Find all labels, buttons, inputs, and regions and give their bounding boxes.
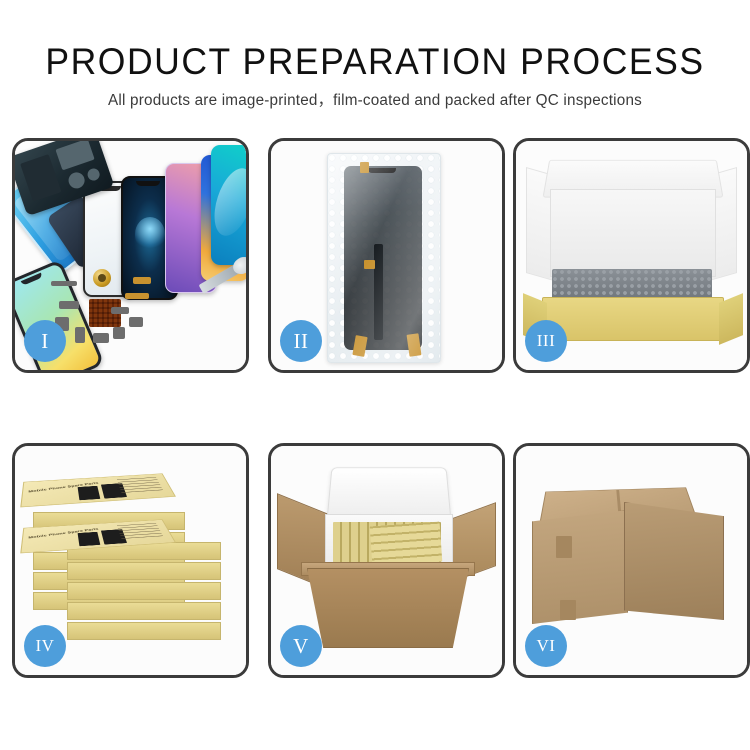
part-flex-icon (125, 293, 149, 299)
box-print-thumb-icon (78, 532, 101, 546)
step-badge-3: III (525, 320, 567, 362)
stacked-box-icon (67, 622, 221, 640)
step-badge-1: I (24, 320, 66, 362)
process-step-grid: I II (0, 0, 750, 750)
part-bracket-icon (59, 301, 79, 309)
part-strip-icon (51, 281, 77, 286)
bubble-wrap-bag-icon (327, 153, 441, 363)
stacked-box-icon (67, 562, 221, 580)
process-step-4: Mobile Phone Spare Parts Mobile Phone Sp… (12, 443, 249, 678)
carton-left-face-icon (532, 510, 628, 624)
carton-front-icon (307, 568, 469, 648)
stacked-box-icon (67, 602, 221, 620)
process-step-6: VI (513, 443, 750, 678)
printed-box-top-icon: Mobile Phone Spare Parts (20, 473, 176, 507)
process-step-2: II (268, 138, 505, 373)
carton-tape-icon (556, 536, 572, 558)
process-step-1: I (12, 138, 249, 373)
box-print-thumb-icon (78, 486, 101, 500)
part-cable-icon (111, 307, 129, 314)
step-badge-5: V (280, 625, 322, 667)
product-preparation-infographic: PRODUCT PREPARATION PROCESS All products… (0, 0, 750, 750)
packed-units-icon (370, 522, 443, 567)
part-button-icon (75, 327, 85, 343)
process-step-3: III (513, 138, 750, 373)
part-sensor-icon (113, 327, 125, 339)
step-badge-6: VI (525, 625, 567, 667)
box-print-spec-lines (117, 523, 164, 541)
stacked-box-icon (67, 582, 221, 600)
teal-phone-icon (211, 145, 249, 265)
step-badge-2: II (280, 320, 322, 362)
box-print-spec-lines (117, 477, 164, 495)
carton-right-face-icon (624, 502, 724, 620)
carton-tape-icon (560, 600, 576, 620)
speaker-coil-icon (93, 269, 111, 287)
yellow-box-tray-icon (542, 297, 724, 341)
part-motor-icon (93, 333, 109, 343)
bag-gloss-overlay (328, 154, 440, 362)
process-step-5: V (268, 443, 505, 678)
part-tray-icon (129, 317, 143, 327)
part-connector-icon (133, 277, 151, 284)
step-badge-4: IV (24, 625, 66, 667)
box-back-panel-icon (550, 189, 716, 277)
